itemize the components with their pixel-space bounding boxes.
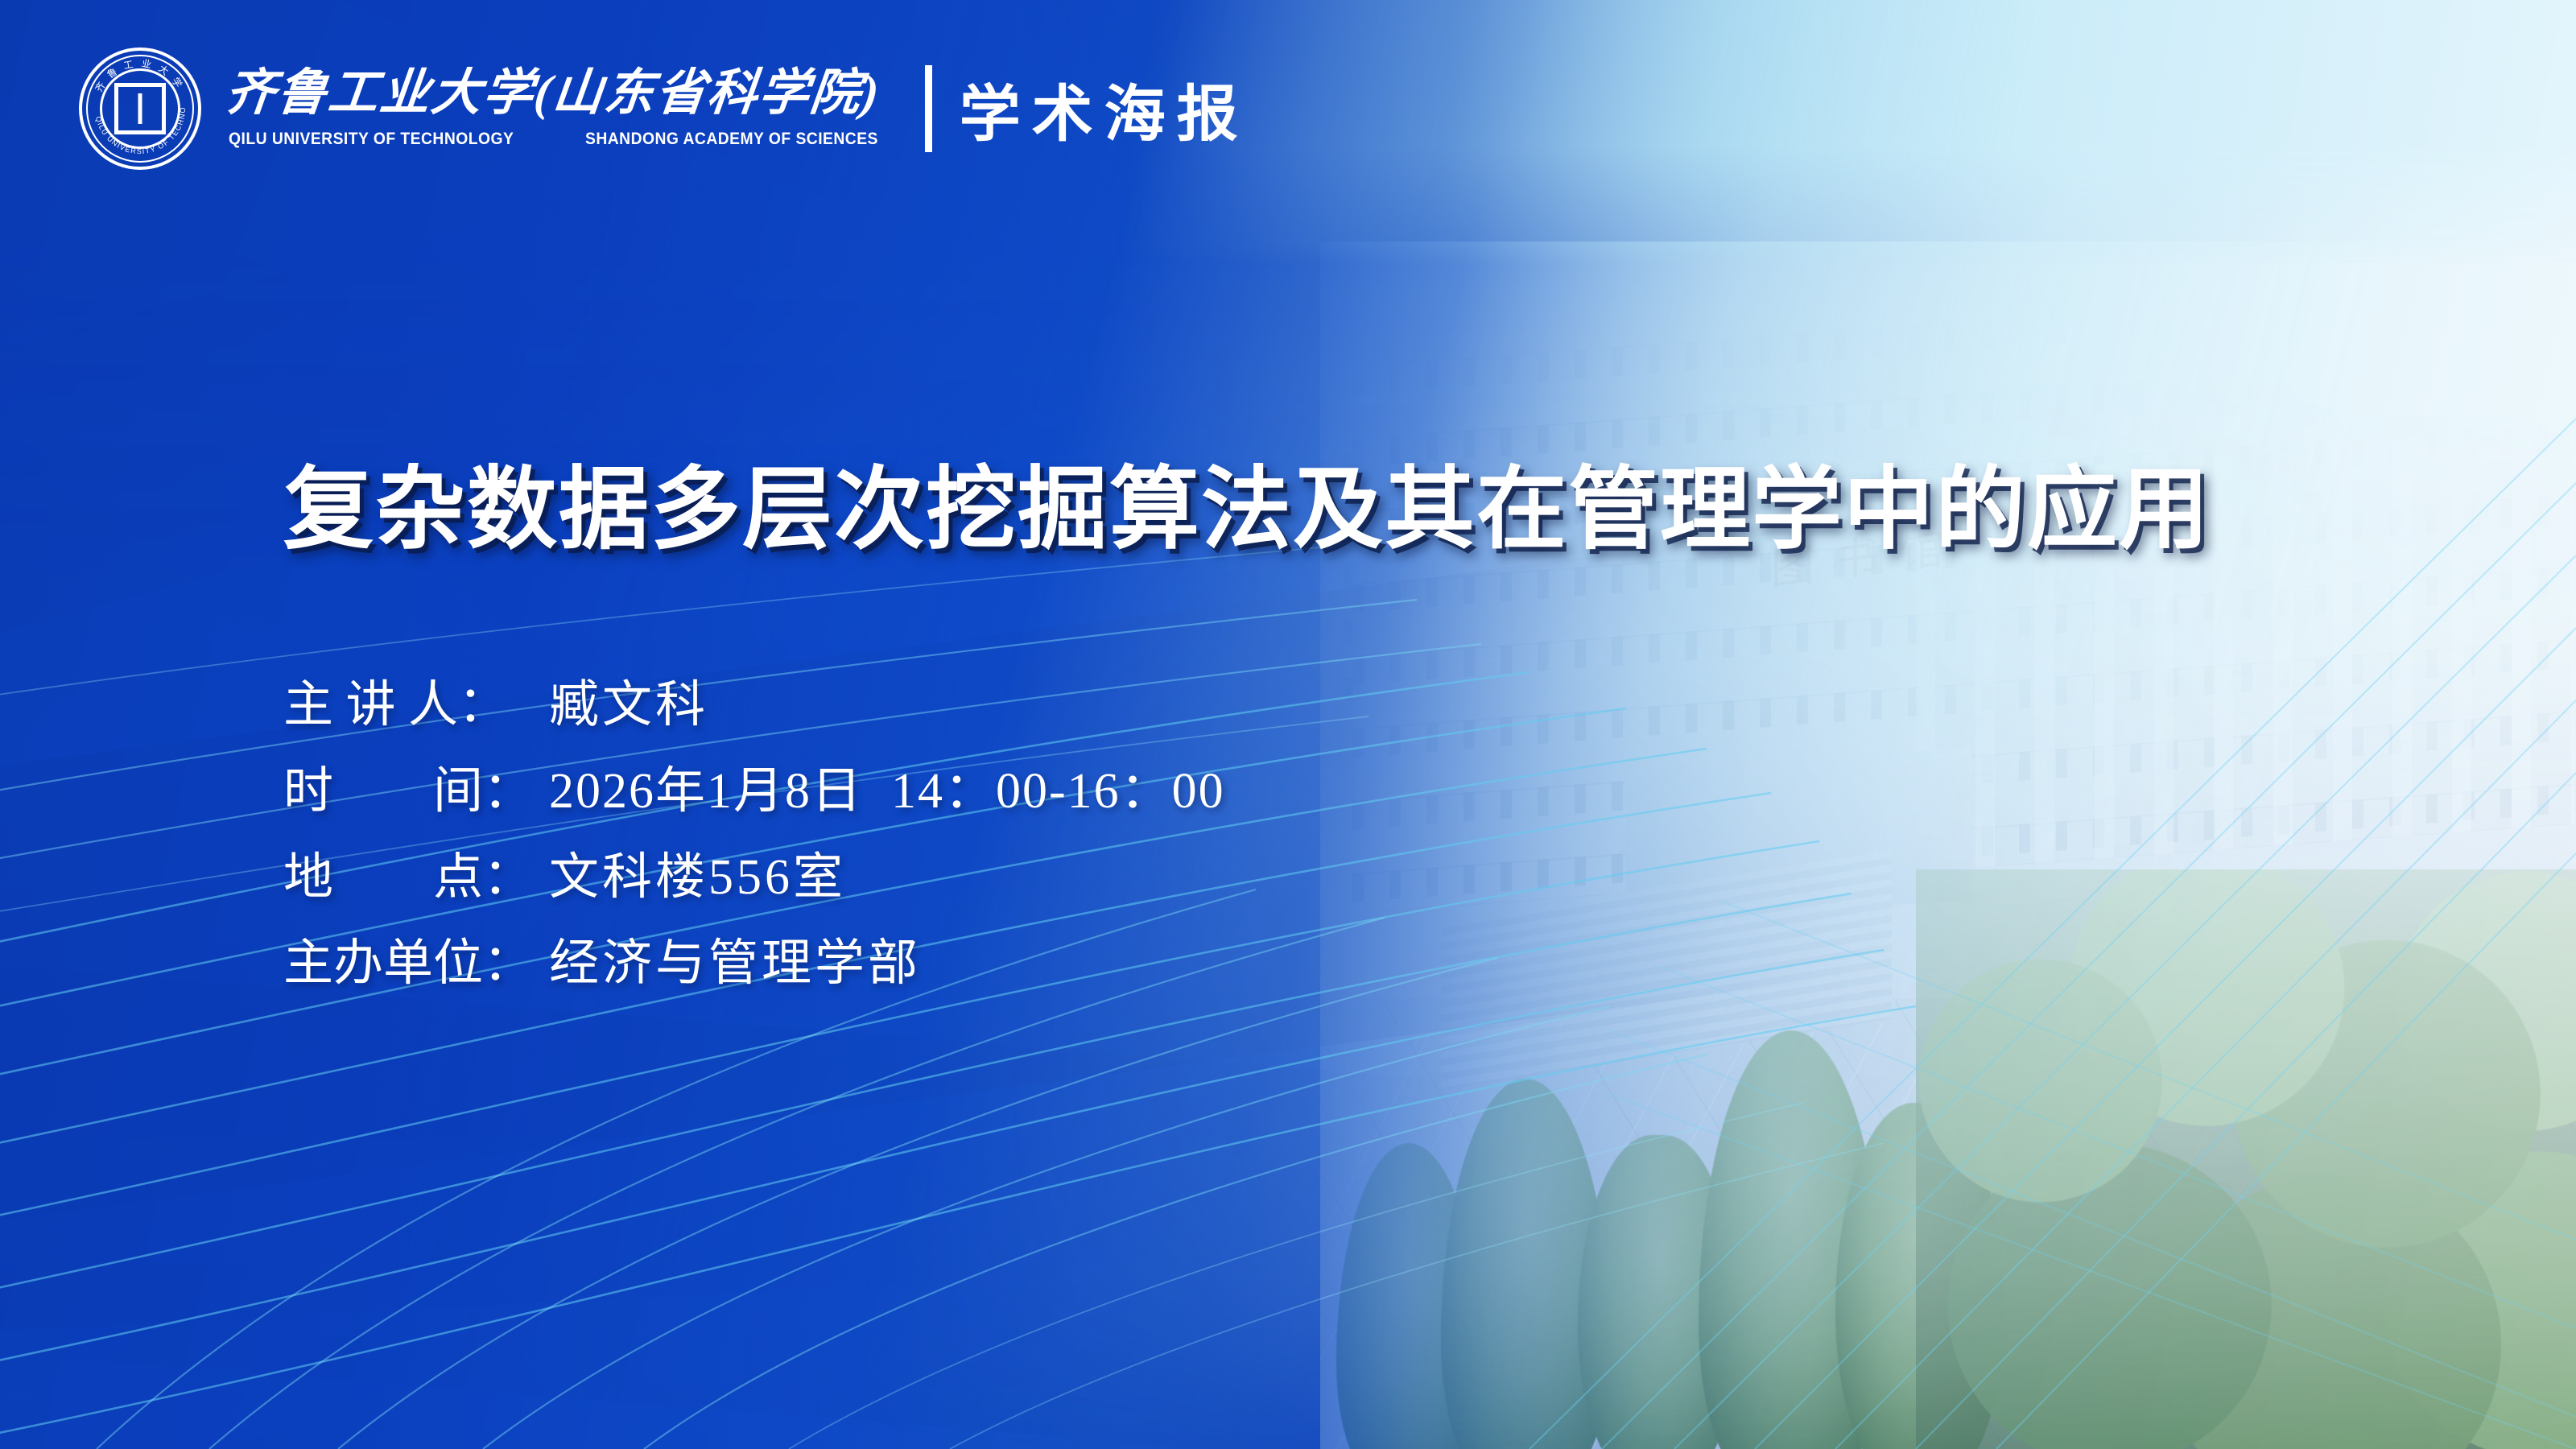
detail-label-organizer: 主办单位： xyxy=(283,935,549,993)
detail-row-speaker: 主 讲 人： 臧文科 xyxy=(283,676,1225,735)
academic-poster: 图书馆 xyxy=(0,0,2576,1449)
poster-title: 复杂数据多层次挖掘算法及其在管理学中的应用 xyxy=(283,460,2505,561)
detail-label-time: 时 间： xyxy=(283,762,549,821)
detail-label-speaker: 主 讲 人： xyxy=(283,676,549,735)
detail-row-location: 地 点： 文科楼556室 xyxy=(283,848,1225,907)
detail-row-time: 时 间： 2026年1月8日 14：00-16：00 xyxy=(283,762,1225,821)
detail-value-location: 文科楼556室 xyxy=(549,848,846,907)
detail-value-time: 2026年1月8日 14：00-16：00 xyxy=(549,762,1225,821)
poster-body: 复杂数据多层次挖掘算法及其在管理学中的应用 主 讲 人： 臧文科 时 间： 20… xyxy=(0,0,2576,1449)
detail-value-speaker: 臧文科 xyxy=(549,676,708,735)
poster-details: 主 讲 人： 臧文科 时 间： 2026年1月8日 14：00-16：00 地 … xyxy=(283,676,1225,1022)
detail-row-organizer: 主办单位： 经济与管理学部 xyxy=(283,935,1225,993)
detail-value-organizer: 经济与管理学部 xyxy=(549,935,921,993)
detail-label-location: 地 点： xyxy=(283,848,549,907)
